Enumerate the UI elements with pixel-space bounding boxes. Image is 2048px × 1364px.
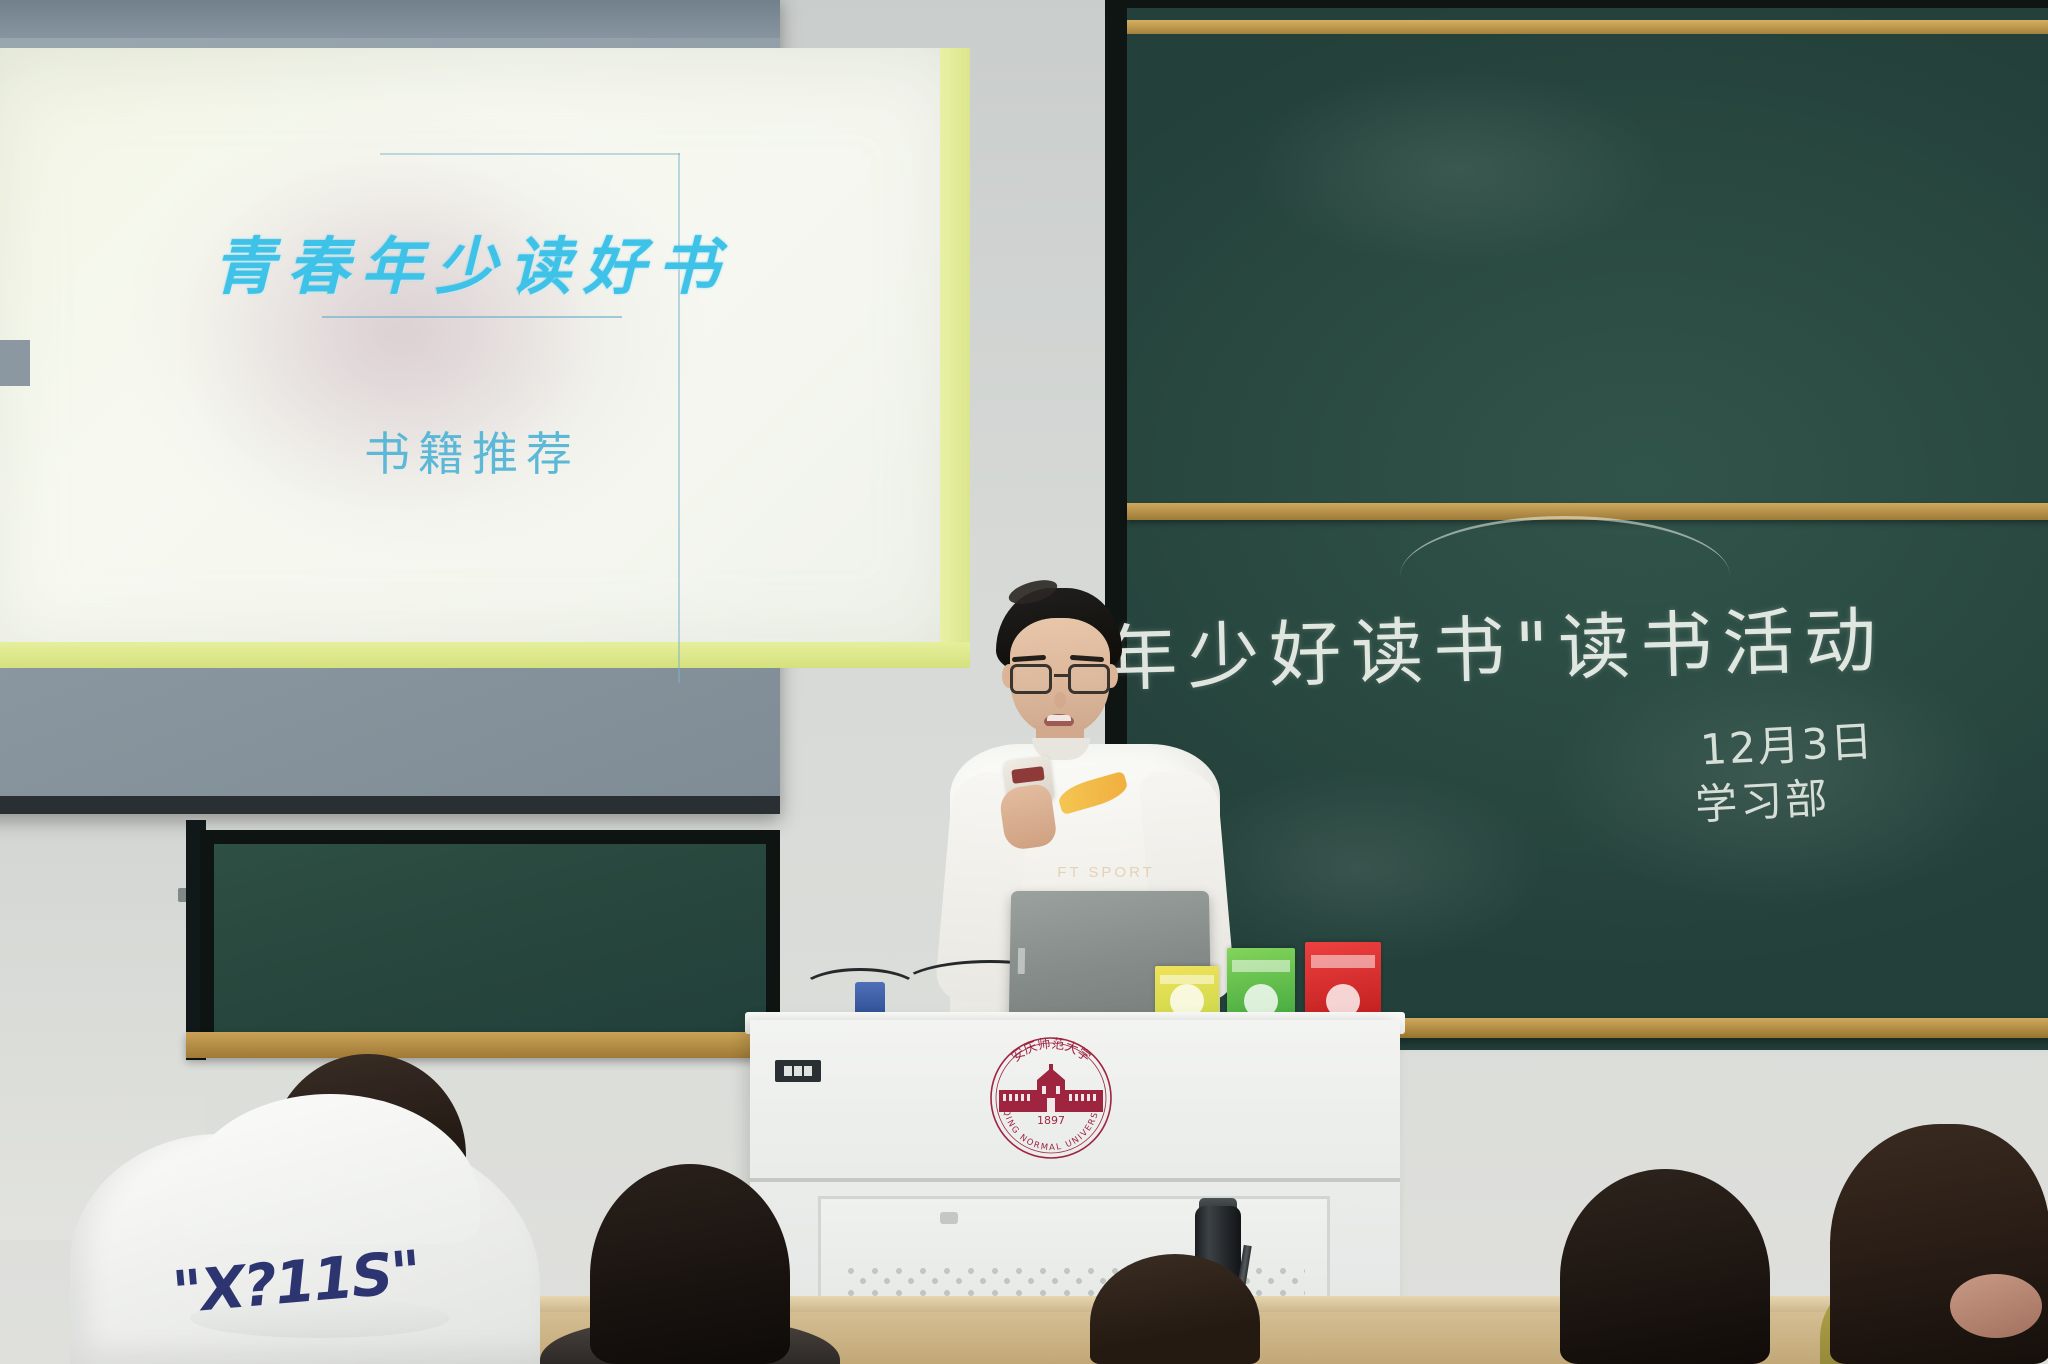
blackboard-department: 学习部 — [1693, 765, 1831, 833]
audience-member-front-left: "X?11S" — [70, 1054, 540, 1364]
eyeglass-lens-left — [1010, 664, 1052, 694]
presenter-hand — [998, 783, 1058, 852]
podium-control-glyph — [794, 1066, 802, 1076]
presenter-teeth — [1047, 715, 1071, 721]
svg-text:安庆师范大学: 安庆师范大学 — [1009, 1037, 1094, 1066]
slide-title-underline — [322, 316, 622, 318]
list-item[interactable] — [1227, 948, 1295, 1022]
hair-scrunchie — [1950, 1274, 2042, 1338]
list-item[interactable] — [1305, 942, 1381, 1022]
presentation-slide: 青春年少读好书 书籍推荐 — [0, 48, 970, 668]
slide-right-border — [940, 48, 970, 668]
svg-text:1897: 1897 — [1037, 1114, 1065, 1127]
left-blackboard — [200, 830, 780, 1050]
audience-member-right — [1560, 1164, 1790, 1364]
audience-hair — [1090, 1254, 1260, 1364]
slide-title: 青春年少读好书 — [0, 216, 970, 306]
audience-member-far-right — [1830, 1114, 2048, 1364]
audience-member-center — [1090, 1254, 1260, 1364]
university-emblem: 安庆师范大学 ANQING NORMAL UNIVERSITY 1897 — [975, 1032, 1127, 1172]
slide-bottom-border — [0, 642, 970, 668]
sweatshirt-chest-text: FT SPORT — [1046, 864, 1166, 881]
projection-screen-top-bar — [0, 0, 780, 38]
podium-control-glyph — [804, 1066, 812, 1076]
book-display — [1155, 940, 1385, 1022]
presenter-nose — [1054, 692, 1066, 708]
book-band — [1311, 955, 1375, 968]
audience-hair — [1560, 1169, 1770, 1364]
chalk-smudge — [1247, 68, 1667, 268]
podium-control-label[interactable] — [775, 1060, 821, 1082]
podium-knob[interactable] — [940, 1212, 958, 1224]
book-band — [1232, 960, 1289, 972]
main-blackboard-rail-top — [1127, 20, 2048, 34]
classroom-scene: 青春年少读好书 书籍推荐 年少好读书"读书活动 12月3日 学习部 — [0, 0, 2048, 1364]
slide-decorative-rule-top — [380, 153, 680, 155]
podium-seam — [750, 1178, 1400, 1182]
blackboard-headline: 年少好读书"读书活动 — [1104, 580, 1936, 705]
laptop-brand-logo — [1018, 948, 1025, 974]
audience-hair — [590, 1164, 790, 1364]
audience-member-center-left — [590, 1164, 790, 1364]
book-band — [1160, 975, 1214, 984]
screen-edge-tab-left — [0, 340, 30, 386]
eyeglasses-icon — [1008, 664, 1114, 694]
eyeglass-lens-right — [1068, 664, 1110, 694]
slide-subtitle: 书籍推荐 — [0, 418, 970, 484]
podium-control-glyph — [784, 1066, 792, 1076]
